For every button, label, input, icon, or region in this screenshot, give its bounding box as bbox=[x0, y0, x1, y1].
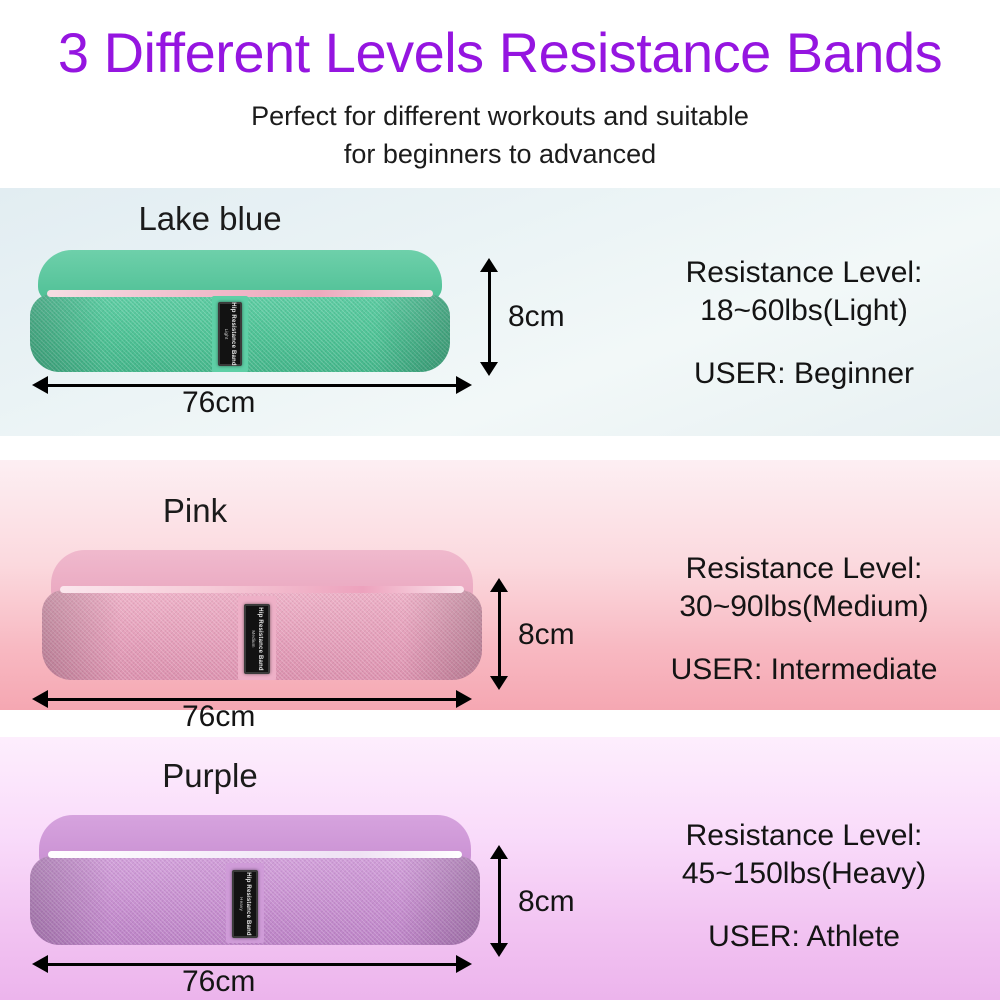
tag-level-text: Light bbox=[224, 329, 229, 340]
band-label-tag: Hip Resistance Band Heavy bbox=[232, 870, 258, 938]
band-color-name: Purple bbox=[0, 757, 510, 795]
arrow-shaft bbox=[498, 859, 501, 943]
band-shadow-left bbox=[30, 294, 106, 372]
subtitle-line-2: for beginners to advanced bbox=[0, 135, 1000, 173]
band-seam bbox=[60, 586, 465, 593]
user-level: USER: Intermediate bbox=[618, 653, 990, 687]
band-shadow-right bbox=[399, 856, 480, 945]
resistance-band-image: Hip Resistance Band Heavy bbox=[30, 815, 480, 945]
arrow-head-right bbox=[456, 376, 472, 394]
width-dimension-label: 76cm bbox=[182, 386, 255, 420]
user-level: USER: Beginner bbox=[618, 357, 990, 391]
arrow-head-down bbox=[490, 943, 508, 957]
arrow-shaft bbox=[488, 272, 491, 362]
band-info-pink: Resistance Level: 30~90lbs(Medium) USER:… bbox=[600, 460, 1000, 710]
band-shadow-right bbox=[403, 590, 482, 680]
arrow-head-down bbox=[480, 362, 498, 376]
height-dimension-arrow bbox=[486, 845, 512, 957]
arrow-head-left bbox=[32, 955, 48, 973]
resistance-band-image: Hip Resistance Band Medium bbox=[42, 550, 482, 680]
width-dimension-label: 76cm bbox=[182, 965, 255, 999]
arrow-head-up bbox=[480, 258, 498, 272]
band-visual-lake-blue: Lake blue Hip Resistance Band Light bbox=[0, 188, 600, 436]
band-visual-purple: Purple Hip Resistance Band Heavy bbox=[0, 737, 600, 1000]
tag-level-text: Medium bbox=[251, 630, 256, 647]
arrow-head-right bbox=[456, 955, 472, 973]
band-label-tag: Hip Resistance Band Medium bbox=[244, 604, 270, 674]
band-info-purple: Resistance Level: 45~150lbs(Heavy) USER:… bbox=[600, 737, 1000, 1000]
arrow-head-right bbox=[456, 690, 472, 708]
subtitle: Perfect for different workouts and suita… bbox=[0, 97, 1000, 174]
arrow-head-left bbox=[32, 376, 48, 394]
page-title: 3 Different Levels Resistance Bands bbox=[0, 22, 1000, 85]
band-info-lake-blue: Resistance Level: 18~60lbs(Light) USER: … bbox=[600, 188, 1000, 436]
resistance-level-value: 18~60lbs(Light) bbox=[618, 292, 990, 330]
band-shadow-left bbox=[30, 856, 111, 945]
height-dimension-label: 8cm bbox=[518, 618, 575, 652]
resistance-band-image: Hip Resistance Band Light bbox=[30, 250, 450, 372]
band-section-pink: Pink Hip Resistance Band Medium bbox=[0, 460, 1000, 710]
band-section-lake-blue: Lake blue Hip Resistance Band Light bbox=[0, 188, 1000, 436]
arrow-shaft bbox=[498, 592, 501, 676]
arrow-head-down bbox=[490, 676, 508, 690]
resistance-level-label: Resistance Level: bbox=[618, 550, 990, 588]
header: 3 Different Levels Resistance Bands Perf… bbox=[0, 0, 1000, 188]
tag-level-text: Heavy bbox=[239, 897, 244, 911]
height-dimension-label: 8cm bbox=[518, 885, 575, 919]
width-dimension-label: 76cm bbox=[182, 700, 255, 734]
arrow-head-up bbox=[490, 578, 508, 592]
user-level: USER: Athlete bbox=[618, 920, 990, 954]
band-shadow-left bbox=[42, 590, 121, 680]
band-color-name: Lake blue bbox=[0, 200, 510, 238]
height-dimension-label: 8cm bbox=[508, 300, 565, 334]
band-shadow-right bbox=[374, 294, 450, 372]
tag-brand-text: Hip Resistance Band bbox=[244, 872, 251, 935]
band-section-purple: Purple Hip Resistance Band Heavy bbox=[0, 737, 1000, 1000]
product-infographic: 3 Different Levels Resistance Bands Perf… bbox=[0, 0, 1000, 1000]
resistance-level-label: Resistance Level: bbox=[618, 254, 990, 292]
band-visual-pink: Pink Hip Resistance Band Medium bbox=[0, 460, 600, 710]
height-dimension-arrow bbox=[476, 258, 502, 376]
resistance-level-label: Resistance Level: bbox=[618, 817, 990, 855]
resistance-level-value: 45~150lbs(Heavy) bbox=[618, 855, 990, 893]
tag-brand-text: Hip Resistance Band bbox=[229, 302, 236, 365]
subtitle-line-1: Perfect for different workouts and suita… bbox=[0, 97, 1000, 135]
height-dimension-arrow bbox=[486, 578, 512, 690]
tag-brand-text: Hip Resistance Band bbox=[256, 607, 263, 670]
arrow-head-up bbox=[490, 845, 508, 859]
band-color-name: Pink bbox=[0, 492, 495, 530]
band-label-tag: Hip Resistance Band Light bbox=[218, 302, 242, 366]
arrow-head-left bbox=[32, 690, 48, 708]
resistance-level-value: 30~90lbs(Medium) bbox=[618, 588, 990, 626]
band-seam bbox=[48, 851, 462, 858]
